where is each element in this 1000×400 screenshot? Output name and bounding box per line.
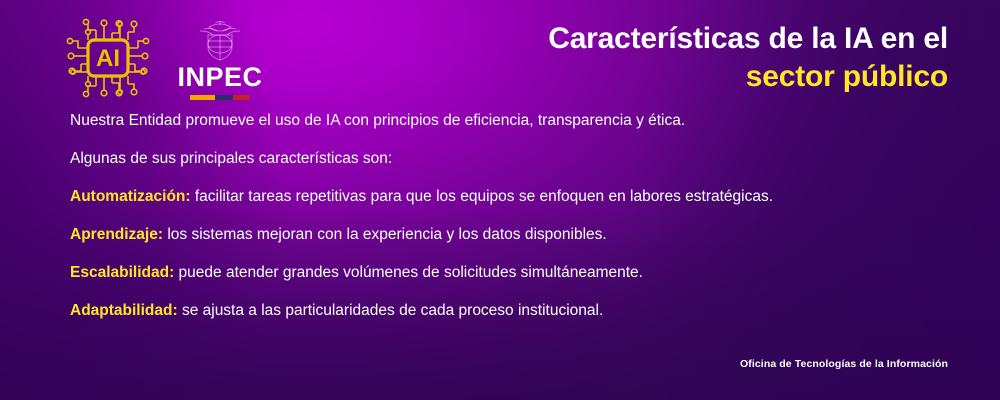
feature-term: Escalabilidad:	[70, 264, 174, 281]
intro-paragraph: Nuestra Entidad promueve el uso de IA co…	[70, 110, 948, 131]
feature-description: puede atender grandes volúmenes de solic…	[174, 264, 643, 281]
feature-item-automatizacion: Automatización: facilitar tareas repetit…	[70, 186, 948, 207]
logo-group: AI INPEC	[62, 12, 272, 104]
title-line-2: sector público	[348, 58, 948, 96]
ai-chip-icon: AI	[62, 14, 154, 102]
title-line-1: Características de la IA en el	[348, 20, 948, 58]
colombia-flag-bar	[190, 95, 250, 100]
feature-description: se ajusta a las particularidades de cada…	[178, 302, 604, 319]
feature-term: Automatización:	[70, 188, 191, 205]
feature-description: facilitar tareas repetitivas para que lo…	[191, 188, 773, 205]
lead-in-paragraph: Algunas de sus principales característic…	[70, 148, 948, 169]
colombia-crest-icon	[162, 16, 278, 62]
inpec-logo: INPEC	[162, 16, 278, 104]
page-title: Características de la IA en el sector pú…	[348, 20, 948, 96]
footer-office-credit: Oficina de Tecnologías de la Información	[740, 358, 948, 370]
body-content: Nuestra Entidad promueve el uso de IA co…	[70, 110, 948, 321]
feature-term: Aprendizaje:	[70, 226, 163, 243]
slide-canvas: AI INPEC	[0, 0, 1000, 400]
flag-stripe-blue	[215, 95, 232, 100]
flag-stripe-yellow	[190, 95, 215, 100]
ai-chip-text: AI	[96, 45, 120, 72]
feature-term: Adaptabilidad:	[70, 302, 178, 319]
feature-item-aprendizaje: Aprendizaje: los sistemas mejoran con la…	[70, 224, 948, 245]
feature-item-adaptabilidad: Adaptabilidad: se ajusta a las particula…	[70, 300, 948, 321]
feature-description: los sistemas mejoran con la experiencia …	[163, 226, 607, 243]
flag-stripe-red	[233, 95, 250, 100]
inpec-label: INPEC	[162, 62, 278, 92]
feature-item-escalabilidad: Escalabilidad: puede atender grandes vol…	[70, 262, 948, 283]
